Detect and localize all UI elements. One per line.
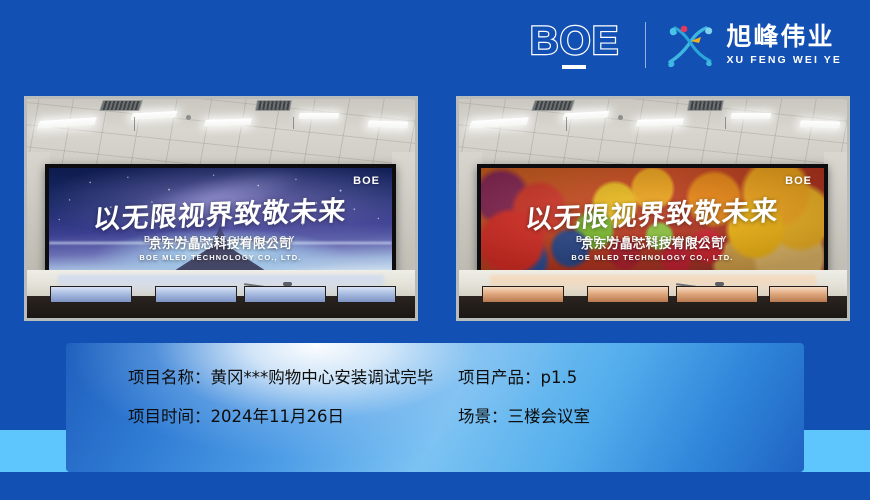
partner-logo: 旭峰伟业 XU FENG WEI YE xyxy=(666,21,842,69)
project-info-panel: 项目名称：黄冈***购物中心安装调试完毕 项目产品：p1.5 项目时间：2024… xyxy=(66,343,804,472)
boe-logo-underline xyxy=(562,65,586,69)
led-display-right: BOE 以无限视界致敬未来 BOE MLED TECHNOLOGY 京东方晶芯科… xyxy=(477,164,828,276)
scene-row: 场景：三楼会议室 xyxy=(458,406,804,427)
ceiling-light-icon xyxy=(730,113,771,119)
partner-name-en: XU FENG WEI YE xyxy=(726,54,842,66)
ceiling-vent-icon xyxy=(99,100,143,111)
ceiling-light-icon xyxy=(368,120,409,128)
screen-company-cn: 京东方晶芯科技有限公司 xyxy=(49,237,392,251)
ceiling-tile-grid xyxy=(27,99,415,167)
ceiling-tile-grid xyxy=(459,99,847,167)
left-room-scene: BOE 以无限视界致敬未来 BOE MLED TECHNOLOGY 京东方晶芯科… xyxy=(27,99,415,318)
project-product-row: 项目产品：p1.5 xyxy=(458,367,804,388)
ceiling-drop-rod xyxy=(134,117,135,131)
screen-boe-watermark: BOE xyxy=(785,175,812,187)
project-time-value: 2024年11月26日 xyxy=(211,407,344,426)
scene-label: 场景： xyxy=(458,407,508,426)
ceiling-drop-rod xyxy=(293,117,294,129)
project-time-row: 项目时间：2024年11月26日 xyxy=(128,406,458,427)
screen-company-block: 京东方晶芯科技有限公司 BOE MLED TECHNOLOGY CO., LTD… xyxy=(481,237,824,262)
boe-logo-text: BOE xyxy=(530,21,620,61)
project-info-grid: 项目名称：黄冈***购物中心安装调试完毕 项目产品：p1.5 项目时间：2024… xyxy=(66,343,804,428)
scene-value: 三楼会议室 xyxy=(508,407,591,426)
project-name-row: 项目名称：黄冈***购物中心安装调试完毕 xyxy=(128,367,458,388)
ceiling-drop-rod xyxy=(725,117,726,129)
xufeng-bird-icon xyxy=(666,21,716,69)
ceiling-light-icon xyxy=(637,118,685,127)
desk-panel xyxy=(587,286,668,302)
ceiling-vent-icon xyxy=(255,100,292,111)
left-led-screen-photo: BOE 以无限视界致敬未来 BOE MLED TECHNOLOGY 京东方晶芯科… xyxy=(24,96,418,321)
right-ceiling xyxy=(459,99,847,167)
screen-company-block: 京东方晶芯科技有限公司 BOE MLED TECHNOLOGY CO., LTD… xyxy=(49,237,392,262)
desk-panel xyxy=(676,286,757,302)
project-name-label: 项目名称： xyxy=(128,368,211,387)
ceiling-light-icon xyxy=(298,113,339,119)
desk-panel xyxy=(50,286,131,302)
desk-panel xyxy=(244,286,325,302)
screen-company-cn: 京东方晶芯科技有限公司 xyxy=(481,237,824,251)
project-product-label: 项目产品： xyxy=(458,368,541,387)
ceiling-vent-icon xyxy=(531,100,575,111)
desk-panel xyxy=(337,286,395,302)
boe-logo: BOE xyxy=(530,21,646,69)
project-time-label: 项目时间： xyxy=(128,407,211,426)
project-product-value: p1.5 xyxy=(541,368,578,387)
screen-company-en: BOE MLED TECHNOLOGY CO., LTD. xyxy=(49,253,392,262)
partner-name-block: 旭峰伟业 XU FENG WEI YE xyxy=(726,24,842,65)
screen-company-en: BOE MLED TECHNOLOGY CO., LTD. xyxy=(481,253,824,262)
poster-canvas: BOE 旭峰伟业 XU FENG WEI YE xyxy=(0,0,870,500)
ceiling-vent-icon xyxy=(687,100,724,111)
screen-boe-watermark: BOE xyxy=(353,175,380,187)
ceiling-light-icon xyxy=(800,120,841,128)
right-room-scene: BOE 以无限视界致敬未来 BOE MLED TECHNOLOGY 京东方晶芯科… xyxy=(459,99,847,318)
ceiling-light-icon xyxy=(205,118,253,127)
desk-panel xyxy=(482,286,563,302)
ceiling-drop-rod xyxy=(566,117,567,131)
desk-panel xyxy=(155,286,236,302)
bottom-strip-cap xyxy=(0,472,870,500)
logo-divider xyxy=(645,22,646,68)
header-logos: BOE 旭峰伟业 XU FENG WEI YE xyxy=(530,18,842,72)
right-led-screen-photo: BOE 以无限视界致敬未来 BOE MLED TECHNOLOGY 京东方晶芯科… xyxy=(456,96,850,321)
left-ceiling xyxy=(27,99,415,167)
project-name-value: 黄冈***购物中心安装调试完毕 xyxy=(211,368,434,387)
led-display-left: BOE 以无限视界致敬未来 BOE MLED TECHNOLOGY 京东方晶芯科… xyxy=(45,164,396,276)
desk-panel xyxy=(769,286,827,302)
partner-name-cn: 旭峰伟业 xyxy=(726,24,842,50)
